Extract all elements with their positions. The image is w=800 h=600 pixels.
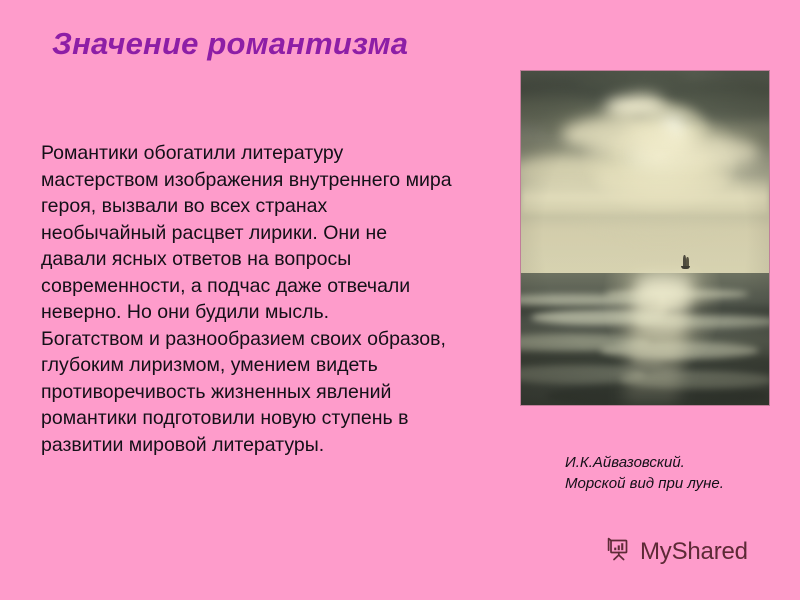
body-line: Романтики обогатили литературу bbox=[41, 140, 481, 167]
myshared-logo-text: MyShared bbox=[640, 540, 748, 564]
painting-frame bbox=[521, 71, 769, 405]
body-line: противоречивость жизненных явлений bbox=[41, 379, 481, 406]
seascape-painting-image bbox=[521, 71, 769, 405]
sailing-ship-icon bbox=[681, 253, 690, 269]
caption-line-title: Морской вид при луне. bbox=[565, 473, 790, 494]
body-line: глубоким лиризмом, умением видеть bbox=[41, 352, 481, 379]
caption-line-author: И.К.Айвазовский. bbox=[565, 452, 790, 473]
body-line: мастерством изображения внутреннего мира bbox=[41, 167, 481, 194]
body-line: давали ясных ответов на вопросы bbox=[41, 246, 481, 273]
painting-caption: И.К.Айвазовский. Морской вид при луне. bbox=[565, 452, 790, 494]
presentation-slide: Значение романтизма Романтики обогатили … bbox=[0, 0, 800, 600]
body-line: современности, а подчас даже отвечали bbox=[41, 273, 481, 300]
page-title: Значение романтизма bbox=[52, 26, 522, 62]
body-line: развитии мировой литературы. bbox=[41, 432, 481, 459]
body-line: героя, вызвали во всех странах bbox=[41, 193, 481, 220]
painting-sky bbox=[521, 71, 769, 281]
ship-hull bbox=[681, 266, 690, 269]
myshared-watermark: MyShared bbox=[604, 534, 748, 569]
body-line: романтики подготовили новую ступень в bbox=[41, 405, 481, 432]
body-line: Богатством и разнообразием своих образов… bbox=[41, 326, 481, 353]
body-line: неверно. Но они будили мысль. bbox=[41, 299, 481, 326]
body-line: необычайный расцвет лирики. Они не bbox=[41, 220, 481, 247]
horizon-haze bbox=[521, 176, 769, 214]
body-paragraph: Романтики обогатили литературу мастерств… bbox=[41, 140, 481, 458]
flipchart-bar-chart-icon bbox=[604, 534, 634, 569]
